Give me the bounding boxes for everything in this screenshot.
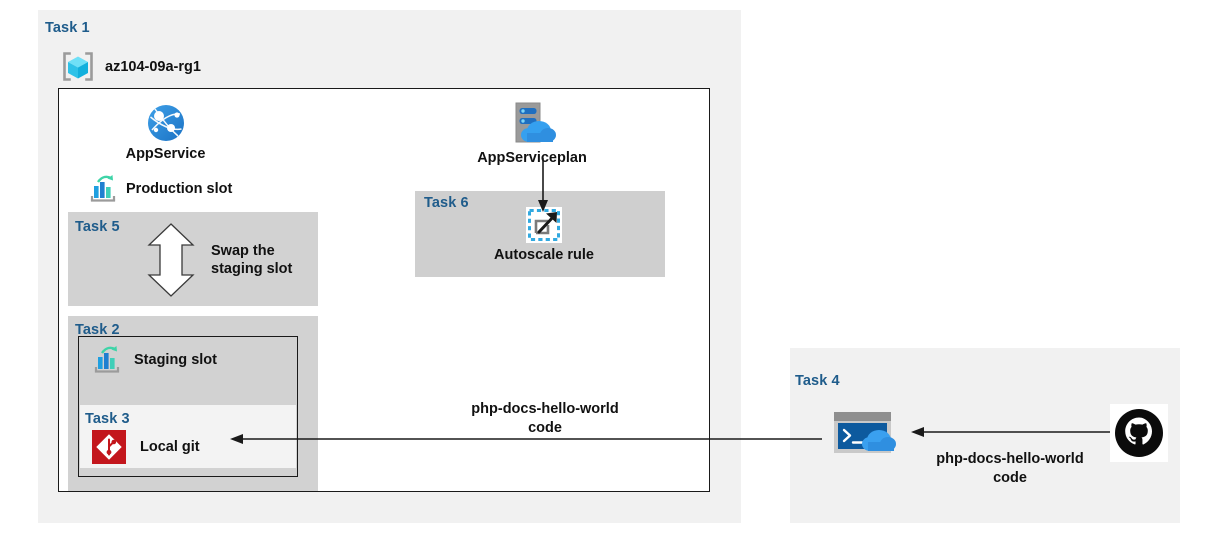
node-appservice-label: AppService — [126, 146, 206, 162]
app-service-globe-icon — [146, 103, 186, 143]
resource-group-cube-icon — [60, 50, 96, 83]
connector-label-github-to-cloudshell: php-docs-hello-world code — [920, 450, 1100, 488]
node-autoscale-rule-label: Autoscale rule — [494, 247, 594, 263]
deployment-slot-chart-icon — [88, 174, 118, 204]
node-staging-slot-label: Staging slot — [134, 352, 217, 368]
node-appserviceplan-label: AppServiceplan — [477, 150, 587, 166]
app-service-plan-server-cloud-icon — [503, 100, 561, 148]
node-production-slot: Production slot — [88, 174, 232, 204]
github-octocat-icon — [1110, 404, 1168, 462]
node-production-slot-label: Production slot — [126, 181, 232, 197]
node-local-git: Local git — [92, 430, 200, 464]
connector-label-cloudshell-to-localgit: php-docs-hello-world code — [455, 400, 635, 438]
task-3-label: Task 3 — [85, 411, 130, 427]
resource-group-header: az104-09a-rg1 — [60, 50, 201, 83]
task-5-label: Task 5 — [75, 219, 120, 235]
node-autoscale-rule: Autoscale rule — [489, 207, 599, 263]
autoscale-arrow-icon — [526, 207, 562, 243]
deployment-slot-chart-icon — [92, 345, 122, 375]
action-swap-label: Swap the staging slot — [211, 242, 292, 278]
node-staging-slot: Staging slot — [92, 345, 217, 375]
node-appservice: AppService — [118, 103, 213, 162]
task-6-label: Task 6 — [424, 195, 469, 211]
node-appserviceplan: AppServiceplan — [470, 100, 594, 166]
node-local-git-label: Local git — [140, 439, 200, 455]
cloud-shell-terminal-icon — [832, 410, 902, 456]
action-swap: Swap the staging slot — [145, 222, 292, 298]
task-4-label: Task 4 — [795, 373, 840, 389]
node-github — [1110, 404, 1168, 462]
git-repository-icon — [92, 430, 126, 464]
task-1-label: Task 1 — [45, 20, 90, 36]
resource-group-name: az104-09a-rg1 — [105, 59, 201, 75]
node-cloud-shell — [832, 410, 902, 456]
swap-double-arrow-icon — [145, 222, 197, 298]
diagram-canvas: Task 1 az104-09a-rg1 — [0, 0, 1218, 545]
